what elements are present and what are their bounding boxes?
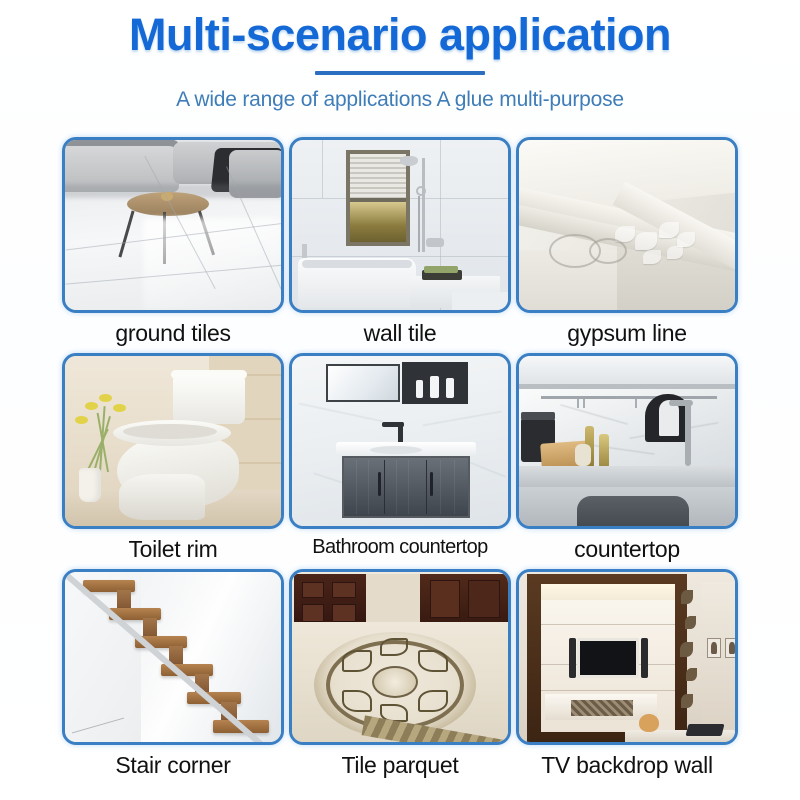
card-bathroom-countertop[interactable] bbox=[289, 353, 511, 529]
card-caption: ground tiles bbox=[62, 320, 284, 347]
scene-ground-tiles bbox=[65, 140, 281, 310]
scene-tile-parquet bbox=[292, 572, 508, 742]
grid-cell: Bathroom countertop bbox=[289, 353, 511, 569]
card-caption: Bathroom countertop bbox=[289, 536, 511, 559]
card-caption: countertop bbox=[516, 536, 738, 563]
card-tile-parquet[interactable] bbox=[289, 569, 511, 745]
grid-cell: Stair corner bbox=[62, 569, 284, 785]
grid-cell: Toilet rim bbox=[62, 353, 284, 569]
card-caption: TV backdrop wall bbox=[516, 752, 738, 779]
scene-bathroom-countertop bbox=[292, 356, 508, 526]
card-caption: Toilet rim bbox=[62, 536, 284, 563]
card-caption: gypsum line bbox=[516, 320, 738, 347]
scene-wall-tile bbox=[292, 140, 508, 310]
card-caption: wall tile bbox=[289, 320, 511, 347]
card-ground-tiles[interactable] bbox=[62, 137, 284, 313]
scene-toilet-rim bbox=[65, 356, 281, 526]
card-caption: Stair corner bbox=[62, 752, 284, 779]
page-title: Multi-scenario application bbox=[0, 8, 800, 62]
grid-cell: wall tile bbox=[289, 137, 511, 353]
grid-cell: ground tiles bbox=[62, 137, 284, 353]
card-tv-backdrop-wall[interactable] bbox=[516, 569, 738, 745]
page-subtitle: A wide range of applications A glue mult… bbox=[0, 88, 800, 112]
grid-cell: gypsum line bbox=[516, 137, 738, 353]
card-stair-corner[interactable] bbox=[62, 569, 284, 745]
grid-cell: Tile parquet bbox=[289, 569, 511, 785]
card-gypsum-line[interactable] bbox=[516, 137, 738, 313]
grid-cell: countertop bbox=[516, 353, 738, 569]
scene-stair-corner bbox=[65, 572, 281, 742]
card-toilet-rim[interactable] bbox=[62, 353, 284, 529]
card-countertop[interactable] bbox=[516, 353, 738, 529]
grid-cell: TV backdrop wall bbox=[516, 569, 738, 785]
header: Multi-scenario application A wide range … bbox=[0, 0, 800, 112]
scene-tv-backdrop-wall bbox=[519, 572, 735, 742]
scene-countertop bbox=[519, 356, 735, 526]
scene-gypsum-line bbox=[519, 140, 735, 310]
poster: Multi-scenario application A wide range … bbox=[0, 0, 800, 800]
application-grid: ground tiles wall tile bbox=[62, 137, 738, 785]
card-wall-tile[interactable] bbox=[289, 137, 511, 313]
wall-vine-decal bbox=[679, 582, 701, 728]
card-caption: Tile parquet bbox=[289, 752, 511, 779]
title-underline bbox=[315, 71, 485, 75]
